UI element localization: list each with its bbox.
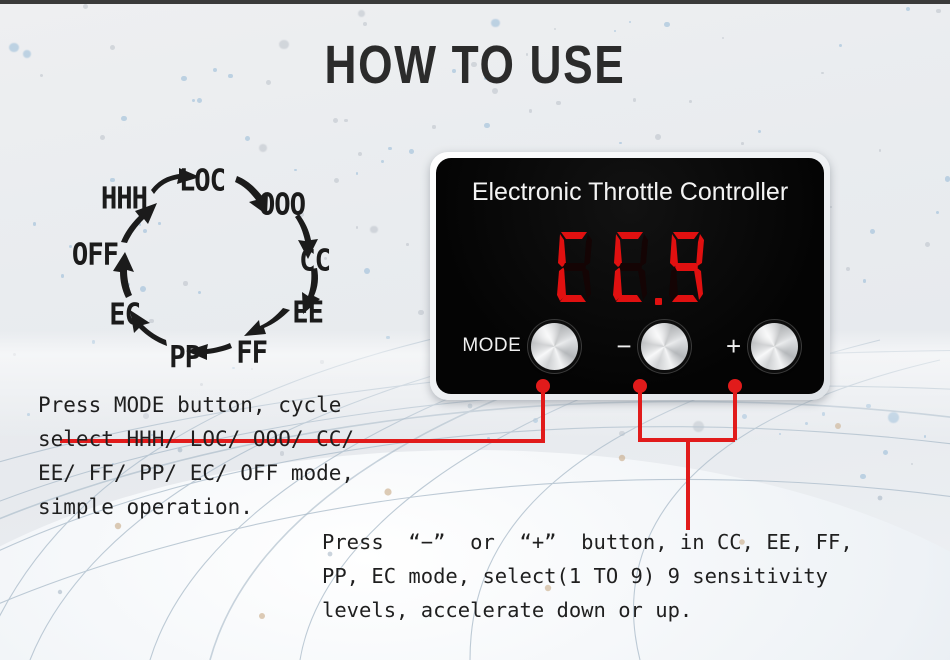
bokeh-dot	[553, 456, 559, 462]
bokeh-dot	[484, 123, 490, 129]
bokeh-dot	[936, 9, 940, 13]
minus-button-label: −	[616, 331, 632, 362]
cycle-mode-off: OFF	[72, 237, 118, 272]
bokeh-dot	[689, 100, 692, 103]
page-title: HOW TO USE	[86, 34, 865, 96]
bokeh-dot	[924, 435, 927, 438]
bokeh-dot	[664, 22, 670, 28]
bokeh-dot	[619, 142, 621, 144]
sensitivity-instruction-text: Press “−” or “+” button, in CC, EE, FF, …	[322, 525, 853, 627]
cycle-mode-ff: FF	[236, 335, 267, 370]
minus-button[interactable]	[641, 323, 688, 370]
controller-device: Electronic Throttle Controller MODE − +	[430, 152, 830, 400]
display-digit-2	[607, 229, 653, 307]
bokeh-dot	[27, 413, 30, 416]
minus-button-group[interactable]: −	[616, 323, 688, 370]
bokeh-dot	[925, 242, 930, 247]
button-row: MODE − +	[436, 314, 824, 378]
cycle-mode-cc: CC	[299, 243, 330, 278]
bokeh-dot	[344, 119, 348, 123]
bokeh-dot	[906, 7, 910, 11]
bokeh-dot	[830, 206, 832, 208]
bokeh-dot	[742, 414, 747, 419]
seven-segment-display	[436, 220, 824, 315]
mode-instruction-text: Press MODE button, cycle select HHH/ LOC…	[38, 388, 354, 524]
bokeh-dot	[629, 21, 631, 23]
bokeh-dot	[388, 147, 392, 151]
bokeh-dot	[197, 98, 202, 103]
bokeh-dot	[683, 471, 689, 477]
bokeh-dot	[406, 243, 409, 246]
bokeh-dot	[936, 211, 939, 214]
display-digit-1	[551, 229, 597, 307]
bokeh-dot	[779, 433, 781, 435]
plus-button-group[interactable]: +	[726, 323, 798, 370]
cycle-mode-pp: PP	[169, 340, 200, 375]
page-root: HOW TO USE	[0, 0, 950, 660]
cycle-mode-ee: EE	[292, 295, 323, 330]
bokeh-dot	[614, 30, 616, 32]
bokeh-dot	[363, 22, 367, 26]
top-strip	[0, 0, 950, 4]
bokeh-dot	[487, 437, 491, 441]
bokeh-dot	[33, 222, 37, 226]
bokeh-dot	[200, 383, 203, 386]
bokeh-dot	[888, 412, 900, 424]
bokeh-dot	[355, 470, 362, 477]
display-digit-3	[663, 229, 709, 307]
bokeh-dot	[758, 130, 761, 133]
bokeh-dot	[192, 99, 195, 102]
bokeh-dot	[655, 134, 661, 140]
bokeh-dot	[805, 422, 808, 425]
bokeh-dot	[259, 144, 267, 152]
bokeh-dot	[364, 268, 370, 274]
bokeh-dot	[381, 160, 384, 163]
bokeh-dot	[533, 418, 538, 423]
bokeh-dot	[619, 431, 624, 436]
mode-button-group[interactable]: MODE	[462, 323, 578, 370]
bokeh-dot	[883, 450, 888, 455]
mode-cycle-diagram: LOCOOOCCEEFFPPECOFFHHH	[55, 158, 365, 383]
bokeh-dot	[860, 474, 866, 480]
bokeh-dot	[386, 336, 389, 339]
bokeh-dot	[13, 353, 16, 356]
bokeh-dot	[121, 116, 126, 121]
cycle-mode-hhh: HHH	[101, 181, 147, 216]
bokeh-dot	[409, 149, 414, 154]
bokeh-dot	[435, 454, 438, 457]
bokeh-dot	[846, 267, 850, 271]
bokeh-dot	[870, 229, 875, 234]
bokeh-dot	[741, 142, 744, 145]
bokeh-dot	[866, 404, 870, 408]
device-title: Electronic Throttle Controller	[436, 178, 824, 207]
bokeh-dot	[333, 118, 338, 123]
bokeh-dot	[418, 310, 423, 315]
bokeh-dot	[100, 135, 105, 140]
bokeh-dot	[358, 10, 365, 17]
device-faceplate: Electronic Throttle Controller MODE − +	[436, 158, 824, 394]
cycle-mode-ooo: OOO	[259, 187, 305, 222]
bokeh-dot	[83, 4, 88, 9]
bokeh-dot	[23, 50, 31, 58]
bokeh-dot	[245, 136, 250, 141]
bokeh-dot	[879, 149, 882, 152]
plus-button[interactable]	[751, 323, 798, 370]
bokeh-dot	[554, 28, 556, 30]
bokeh-dot	[432, 125, 435, 128]
bokeh-dot	[370, 226, 378, 234]
bokeh-dot	[633, 98, 637, 102]
mode-button-label: MODE	[462, 335, 521, 357]
mode-button[interactable]	[531, 323, 578, 370]
bokeh-dot	[529, 109, 532, 112]
bokeh-dot	[911, 463, 913, 465]
plus-button-label: +	[726, 331, 742, 362]
cycle-mode-loc: LOC	[179, 163, 225, 198]
bokeh-dot	[945, 176, 950, 181]
bokeh-dot	[358, 152, 362, 156]
bokeh-dot	[556, 101, 560, 105]
bokeh-dot	[822, 412, 825, 415]
display-decimal-point	[655, 298, 662, 305]
bokeh-dot	[863, 279, 866, 282]
bokeh-dot	[9, 43, 19, 53]
bokeh-dot	[40, 74, 44, 78]
bokeh-dot	[491, 19, 499, 27]
bokeh-dot	[693, 421, 704, 432]
cycle-mode-ec: EC	[109, 297, 140, 332]
